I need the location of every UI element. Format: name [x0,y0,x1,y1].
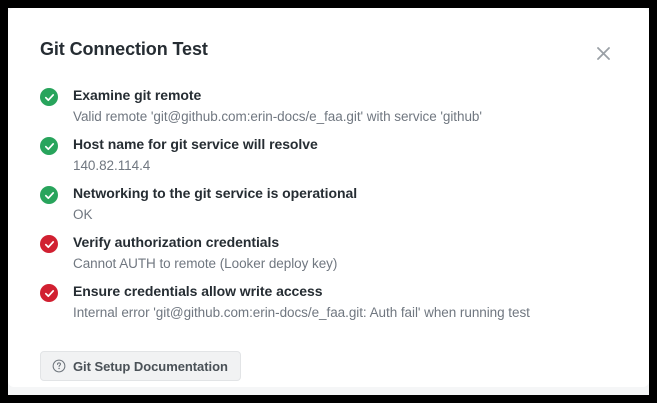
list-item: Examine git remote Valid remote 'git@git… [40,86,620,135]
list-item: Networking to the git service is operati… [40,184,620,233]
screen-frame: Git Connection Test Examine git remote V… [0,0,657,403]
git-setup-documentation-button[interactable]: Git Setup Documentation [40,351,241,381]
test-label: Examine git remote [73,86,620,105]
test-detail: OK [73,206,620,224]
dialog-footer: Git Setup Documentation [40,351,241,381]
check-circle-icon [40,284,58,302]
test-label: Networking to the git service is operati… [73,184,620,203]
test-detail: 140.82.114.4 [73,157,620,175]
test-label: Ensure credentials allow write access [73,282,620,301]
test-detail: Valid remote 'git@github.com:erin-docs/e… [73,108,620,126]
check-circle-icon [40,235,58,253]
close-icon [597,47,610,60]
test-label: Verify authorization credentials [73,233,620,252]
check-circle-icon [40,186,58,204]
list-item: Ensure credentials allow write access In… [40,282,620,331]
test-result-list: Examine git remote Valid remote 'git@git… [40,86,620,331]
check-circle-icon [40,137,58,155]
git-connection-test-dialog: Git Connection Test Examine git remote V… [8,8,649,387]
help-circle-icon [52,359,66,373]
close-button[interactable] [590,40,616,66]
page-title: Git Connection Test [40,38,208,60]
test-label: Host name for git service will resolve [73,135,620,154]
list-item: Verify authorization credentials Cannot … [40,233,620,282]
list-item: Host name for git service will resolve 1… [40,135,620,184]
git-setup-documentation-label: Git Setup Documentation [73,359,228,374]
test-detail: Internal error 'git@github.com:erin-docs… [73,304,620,322]
dialog-header: Git Connection Test [8,8,649,70]
check-circle-icon [40,88,58,106]
test-detail: Cannot AUTH to remote (Looker deploy key… [73,255,620,273]
